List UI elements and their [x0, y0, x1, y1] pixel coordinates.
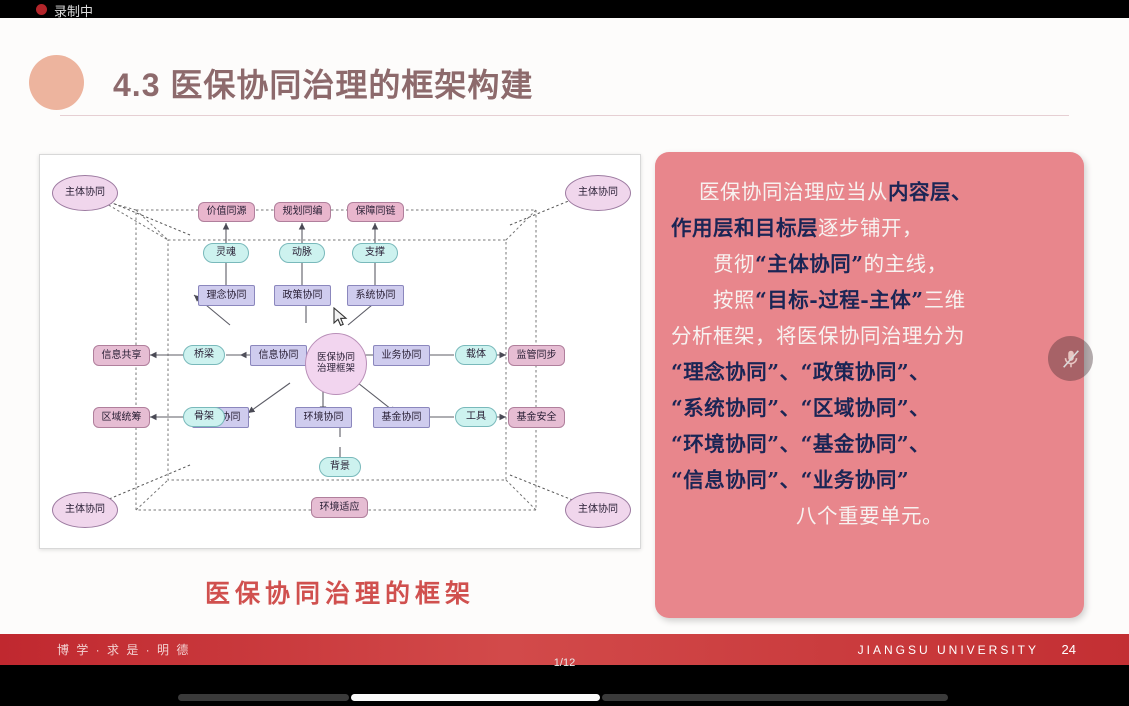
summary-text: 三维	[924, 288, 966, 312]
summary-line-1: 医保协同治理应当从内容层、	[671, 174, 1068, 210]
progress-track[interactable]	[178, 694, 948, 701]
diagram-core-line2: 治理框架	[317, 364, 355, 375]
summary-text: 八个重要单元。	[796, 504, 943, 528]
diagram-node-outcome-top-2: 规划同编	[274, 202, 331, 222]
diagram-node-outcome-supervision: 监管同步	[508, 345, 565, 366]
footer-motto: 博 学 · 求 是 · 明 德	[57, 641, 190, 658]
summary-text: 医保协同治理应当从	[699, 180, 888, 204]
summary-highlight: 作用层和目标层	[671, 216, 818, 240]
recording-indicator-dot	[36, 4, 47, 15]
diagram-node-role-carrier: 载体	[455, 345, 497, 365]
title-bullet-circle	[29, 55, 84, 110]
microphone-muted-icon[interactable]	[1048, 336, 1093, 381]
summary-highlight: “信息协同”、“业务协同”	[671, 468, 909, 492]
diagram-panel: 主体协同 主体协同 主体协同 主体协同 价值同源 规划同编 保障同链 灵魂 动脉…	[39, 154, 641, 549]
footer-organization: JIANGSU UNIVERSITY	[858, 643, 1039, 657]
summary-line-4: 按照“目标-过程-主体”三维	[671, 282, 1068, 318]
summary-text-panel: 医保协同治理应当从内容层、作用层和目标层逐步铺开，贯彻“主体协同”的主线，按照“…	[655, 152, 1084, 618]
diagram-node-role-top-3: 支撑	[352, 243, 398, 263]
diagram-node-dimension-zc: 政策协同	[274, 285, 331, 306]
diagram-node-core: 医保协同 治理框架	[305, 333, 367, 395]
summary-highlight: “系统协同”、“区域协同”、	[671, 396, 930, 420]
diagram-node-dimension-hj: 环境协同	[295, 407, 352, 428]
diagram-node-role-top-2: 动脉	[279, 243, 325, 263]
diagram-node-outcome-info-share: 信息共享	[93, 345, 150, 366]
diagram-node-corner-bl: 主体协同	[52, 492, 118, 528]
summary-text: 贯彻	[713, 252, 755, 276]
progress-segment-3[interactable]	[602, 694, 948, 701]
diagram-stage: 主体协同 主体协同 主体协同 主体协同 价值同源 规划同编 保障同链 灵魂 动脉…	[40, 155, 640, 548]
diagram-node-role-tool: 工具	[455, 407, 497, 427]
diagram-node-outcome-region-plan: 区域统筹	[93, 407, 150, 428]
diagram-node-outcome-top-3: 保障同链	[347, 202, 404, 222]
diagram-node-outcome-fund-safety: 基金安全	[508, 407, 565, 428]
page-title: 4.3 医保协同治理的框架构建	[113, 60, 533, 106]
diagram-node-dimension-xx: 信息协同	[250, 345, 307, 366]
diagram-node-dimension-yw: 业务协同	[373, 345, 430, 366]
diagram-node-outcome-top-1: 价值同源	[198, 202, 255, 222]
diagram-node-role-top-1: 灵魂	[203, 243, 249, 263]
title-divider	[60, 115, 1069, 116]
slide-header: 4.3 医保协同治理的框架构建	[0, 14, 1129, 114]
summary-line-7: “系统协同”、“区域协同”、	[671, 390, 1068, 426]
diagram-node-role-background: 背景	[319, 457, 361, 477]
summary-line-5: 分析框架，将医保协同治理分为	[671, 318, 1068, 354]
summary-text: 分析框架，将医保协同治理分为	[671, 324, 965, 348]
summary-highlight: “理念协同”、“政策协同”、	[671, 360, 930, 384]
diagram-node-dimension-lnnx: 理念协同	[198, 285, 255, 306]
summary-line-6: “理念协同”、“政策协同”、	[671, 354, 1068, 390]
recording-status-bar: 录制中	[0, 0, 1129, 18]
diagram-node-outcome-env-adapt: 环境适应	[311, 497, 368, 518]
summary-highlight: “主体协同”	[755, 252, 864, 276]
diagram-node-role-bridge: 桥梁	[183, 345, 225, 365]
recording-label: 录制中	[54, 5, 93, 18]
diagram-node-dimension-xt: 系统协同	[347, 285, 404, 306]
page-indicator: 1/12	[0, 657, 1129, 669]
footer-slide-number: 24	[1062, 642, 1076, 657]
diagram-node-dimension-jj: 基金协同	[373, 407, 430, 428]
summary-line-2: 作用层和目标层逐步铺开，	[671, 210, 1068, 246]
diagram-node-role-skeleton: 骨架	[183, 407, 225, 427]
summary-highlight: “环境协同”、“基金协同”、	[671, 432, 930, 456]
summary-line-10: 八个重要单元。	[671, 498, 1068, 534]
slide-canvas: 4.3 医保协同治理的框架构建	[0, 14, 1129, 640]
summary-text: 逐步铺开，	[818, 216, 923, 240]
summary-line-3: 贯彻“主体协同”的主线，	[671, 246, 1068, 282]
diagram-caption: 医保协同治理的框架	[39, 574, 641, 610]
summary-line-8: “环境协同”、“基金协同”、	[671, 426, 1068, 462]
progress-segment-1[interactable]	[178, 694, 349, 701]
summary-text: 的主线，	[864, 252, 948, 276]
summary-line-9: “信息协同”、“业务协同”	[671, 462, 1068, 498]
summary-highlight: 内容层、	[888, 180, 972, 204]
progress-segment-2[interactable]	[351, 694, 600, 701]
mouse-cursor-icon	[333, 307, 348, 328]
diagram-node-corner-tr: 主体协同	[565, 175, 631, 211]
diagram-node-corner-br: 主体协同	[565, 492, 631, 528]
diagram-node-corner-tl: 主体协同	[52, 175, 118, 211]
mic-glyph	[1060, 348, 1082, 370]
summary-highlight: “目标-过程-主体”	[755, 288, 924, 312]
summary-text: 按照	[713, 288, 755, 312]
